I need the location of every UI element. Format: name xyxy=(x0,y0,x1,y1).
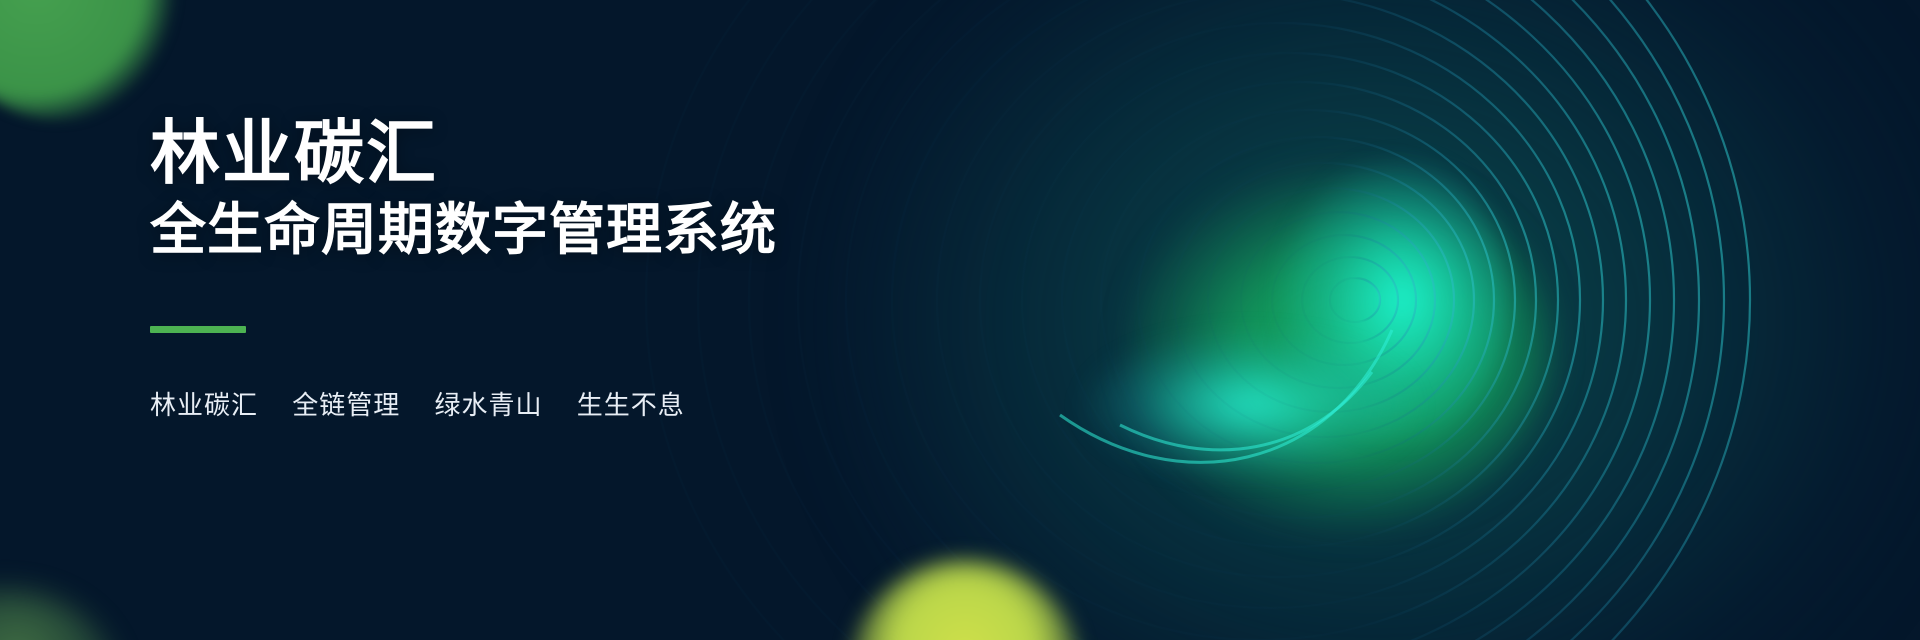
accent-divider xyxy=(150,326,246,333)
decor-circle-bottom-left xyxy=(0,590,120,640)
hero-content: 林业碳汇 全生命周期数字管理系统 林业碳汇 全链管理 绿水青山 生生不息 xyxy=(150,118,910,422)
decor-circle-top-left xyxy=(0,0,180,120)
tagline-item-3: 绿水青山 xyxy=(435,390,543,420)
tagline: 林业碳汇 全链管理 绿水青山 生生不息 xyxy=(150,385,910,422)
tagline-item-4: 生生不息 xyxy=(577,390,685,420)
tagline-item-2: 全链管理 xyxy=(292,390,400,420)
decor-circle-bottom xyxy=(850,560,1080,640)
green-core-glow xyxy=(1130,170,1550,530)
ambient-teal-glow xyxy=(820,0,1920,640)
cyan-lower-glow xyxy=(1080,330,1420,480)
cyan-highlight-glow xyxy=(1270,150,1510,450)
hero-banner: 林业碳汇 全生命周期数字管理系统 林业碳汇 全链管理 绿水青山 生生不息 xyxy=(0,0,1920,640)
tagline-item-1: 林业碳汇 xyxy=(150,390,258,420)
page-subtitle: 全生命周期数字管理系统 xyxy=(150,202,910,258)
page-title: 林业碳汇 xyxy=(150,118,910,188)
